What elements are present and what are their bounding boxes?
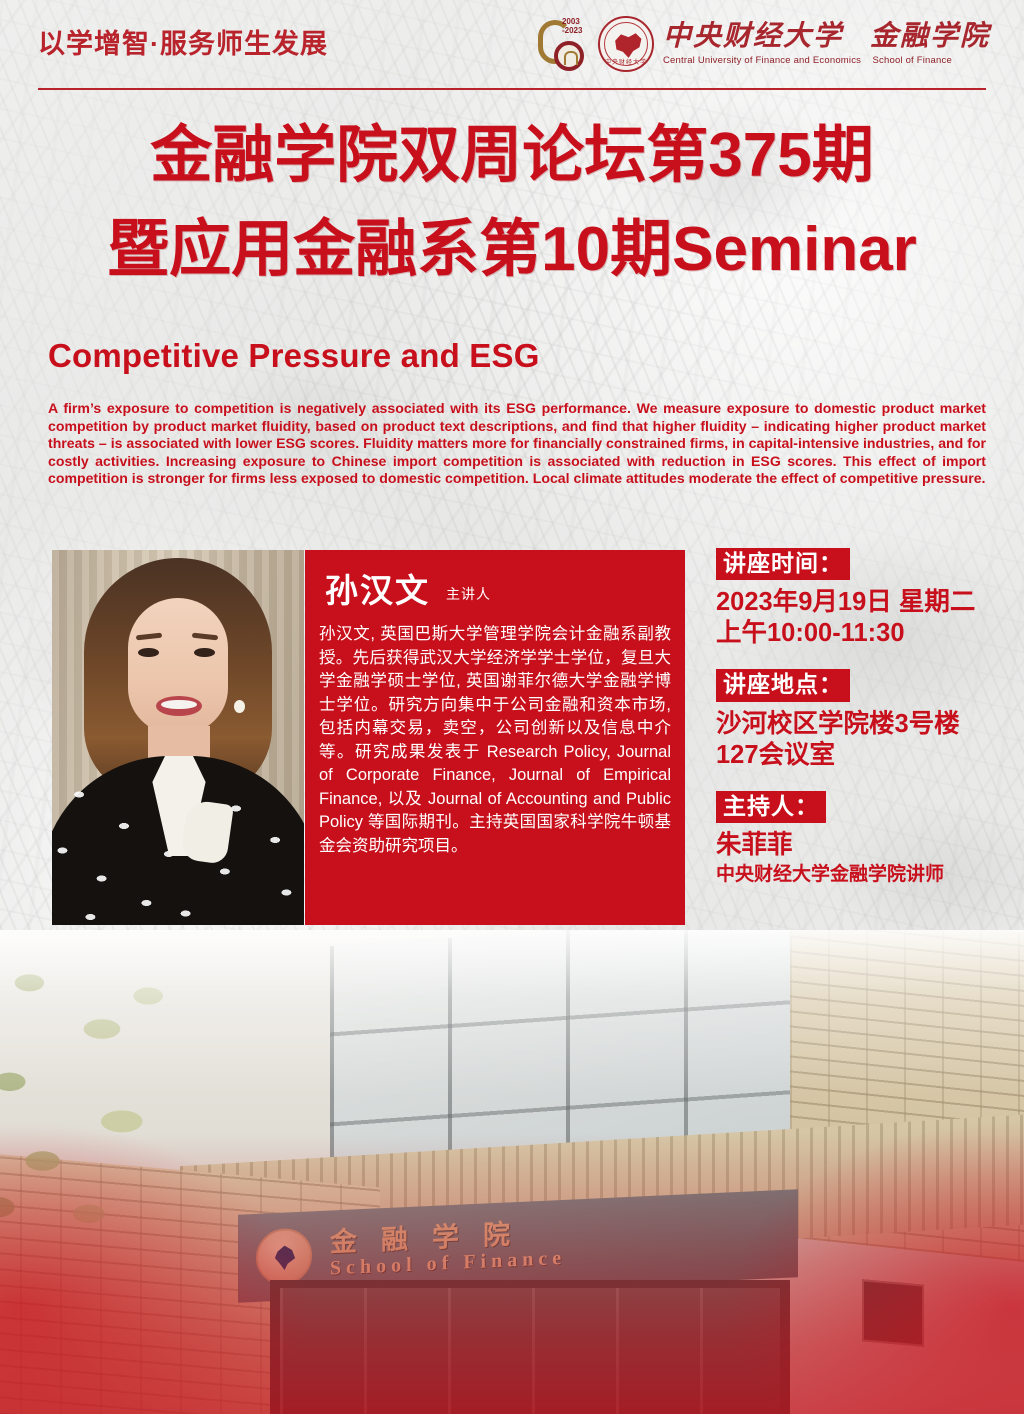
school-name-cn: 金融学院 xyxy=(870,21,990,52)
page-title-line-2: 暨应用金融系第10期Seminar xyxy=(0,210,1024,290)
talk-subtitle: Competitive Pressure and ESG xyxy=(48,337,540,375)
header-slogan: 以学增智·服务师生发展 xyxy=(38,22,328,61)
institution-name-cn: 中央财经大学 金融学院 xyxy=(663,22,990,51)
university-name-cn: 中央财经大学 xyxy=(663,21,843,52)
university-seal-icon: 中央财经大学 xyxy=(598,16,654,72)
portrait-eye-right xyxy=(194,648,215,657)
event-place-value-line-2: 127会议室 xyxy=(716,740,1016,771)
event-time-group: 讲座时间： 2023年9月19日 星期二 上午10:00-11:30 xyxy=(716,548,1016,649)
speaker-portrait-photo xyxy=(52,550,304,925)
header-divider xyxy=(38,88,986,90)
school-name-en: School of Finance xyxy=(872,55,951,66)
anniversary-20-icon: 2003 -2023 xyxy=(537,14,589,74)
speaker-name: 孙汉文 xyxy=(325,574,430,607)
speaker-bio-panel: 孙汉文 主讲人 孙汉文, 英国巴斯大学管理学院会计金融系副教授。先后获得武汉大学… xyxy=(305,550,685,925)
event-host-group: 主持人： 朱菲菲 中央财经大学金融学院讲师 xyxy=(716,791,1016,887)
photo-red-gradient-overlay xyxy=(0,930,1024,1414)
portrait-eye-left xyxy=(138,648,159,657)
event-time-value-line-1: 2023年9月19日 星期二 xyxy=(716,587,1016,618)
anniversary-years-label: 2003 -2023 xyxy=(562,17,589,35)
event-place-value-line-1: 沙河校区学院楼3号楼 xyxy=(716,709,1016,740)
building-photo: 金融学院 School of Finance xyxy=(0,930,1024,1414)
university-name-en: Central University of Finance and Econom… xyxy=(663,55,861,66)
speaker-header: 孙汉文 主讲人 xyxy=(319,574,671,607)
event-time-label: 讲座时间： xyxy=(716,548,850,580)
poster-header: 以学增智·服务师生发展 2003 -2023 中央财经大学 中央财经大学 金融学… xyxy=(0,0,1024,96)
event-host-name: 朱菲菲 xyxy=(716,830,1016,861)
title-block: 金融学院双周论坛第375期 暨应用金融系第10期Seminar xyxy=(0,116,1024,290)
institution-logo-cluster: 2003 -2023 中央财经大学 中央财经大学 金融学院 Central Un… xyxy=(537,12,990,76)
institution-name-en: Central University of Finance and Econom… xyxy=(663,55,990,66)
portrait-earring xyxy=(234,700,245,713)
anniversary-zero-shape xyxy=(554,41,584,71)
event-time-value-line-2: 上午10:00-11:30 xyxy=(716,618,1016,649)
speaker-role-label: 主讲人 xyxy=(446,584,491,607)
portrait-mouth xyxy=(156,696,202,716)
speaker-bio-text: 孙汉文, 英国巴斯大学管理学院会计金融系副教授。先后获得武汉大学经济学学士学位，… xyxy=(319,623,671,858)
seminar-poster: 以学增智·服务师生发展 2003 -2023 中央财经大学 中央财经大学 金融学… xyxy=(0,0,1024,1414)
event-info-column: 讲座时间： 2023年9月19日 星期二 上午10:00-11:30 讲座地点：… xyxy=(716,548,1016,907)
seal-text-label: 中央财经大学 xyxy=(600,57,652,66)
institution-names: 中央财经大学 金融学院 Central University of Financ… xyxy=(663,22,990,65)
event-host-affiliation: 中央财经大学金融学院讲师 xyxy=(716,863,1016,887)
talk-abstract: A firm’s exposure to competition is nega… xyxy=(48,400,986,488)
event-place-label: 讲座地点： xyxy=(716,669,850,701)
event-place-group: 讲座地点： 沙河校区学院楼3号楼 127会议室 xyxy=(716,669,1016,770)
page-title-line-1: 金融学院双周论坛第375期 xyxy=(0,116,1024,196)
event-host-label: 主持人： xyxy=(716,791,826,823)
